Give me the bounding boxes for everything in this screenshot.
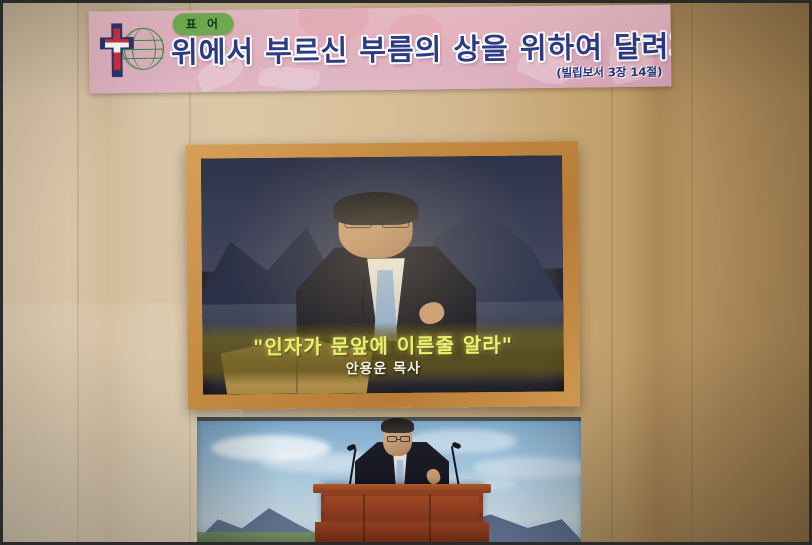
motto-banner: 표 어 위에서 부르신 부름의 상을 위하여 달려가노라 (빌립보서 3장 14… xyxy=(89,4,672,93)
pulpit xyxy=(321,484,483,542)
mural-foliage xyxy=(197,532,317,545)
stage-pastor-glasses-icon xyxy=(387,436,410,442)
stage-pastor-hair xyxy=(381,418,414,433)
pulpit-front-panel xyxy=(325,496,479,518)
screen-caption-bar: "인자가 문앞에 이른줄 알라" 안용운 목사 xyxy=(202,321,564,386)
pulpit-top xyxy=(313,484,491,493)
sanctuary-photo: 표 어 위에서 부르신 부름의 상을 위하여 달려가노라 (빌립보서 3장 14… xyxy=(0,0,812,545)
pulpit-seam xyxy=(429,494,431,542)
banner-scripture-reference: (빌립보서 3장 14절) xyxy=(556,64,662,81)
pulpit-base xyxy=(315,522,489,542)
sermon-title: "인자가 문앞에 이른줄 알라" xyxy=(202,328,563,360)
projection-screen-assembly: "인자가 문앞에 이른줄 알라" 안용운 목사 xyxy=(186,141,580,409)
sermon-speaker: 안용운 목사 xyxy=(203,356,564,379)
projection-screen: "인자가 문앞에 이른줄 알라" 안용운 목사 xyxy=(201,155,564,394)
mural-cloud xyxy=(473,457,581,479)
church-crest-icon xyxy=(98,23,165,80)
screen-wooden-frame: "인자가 문앞에 이른줄 알라" 안용운 목사 xyxy=(186,141,580,409)
pulpit-seam xyxy=(363,494,365,542)
